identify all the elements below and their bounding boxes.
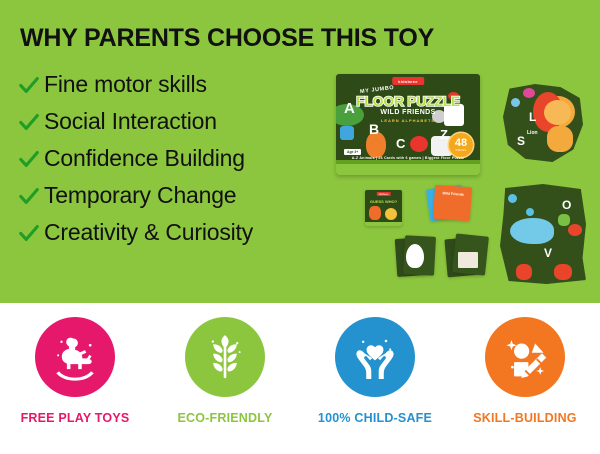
box-letter: B	[369, 121, 379, 137]
box-letter: C	[396, 136, 405, 151]
box-letter: Z	[440, 127, 448, 142]
lower-puzzle-cluster: O V	[500, 184, 586, 284]
list-item: Fine motor skills	[18, 66, 328, 103]
list-item: Social Interaction	[18, 103, 328, 140]
benefits-panel: WHY PARENTS CHOOSE THIS TOY Fine motor s…	[0, 0, 600, 303]
feature-label: FREE PLAY TOYS	[21, 411, 130, 425]
cat-silhouette-icon	[406, 244, 424, 268]
mini-card-box: kidsbeee GUESS WHO?	[365, 190, 402, 226]
box-stripe	[336, 164, 480, 175]
check-icon	[18, 74, 40, 96]
benefit-label: Creativity & Curiosity	[44, 221, 253, 244]
list-item: Confidence Building	[18, 140, 328, 177]
lion-muzzle	[544, 100, 571, 125]
piece-count-badge: 48 PIECES	[449, 133, 473, 157]
card-title: Wild Friends	[442, 191, 464, 196]
feature-circle	[185, 317, 265, 397]
puzzle-letter: S	[517, 134, 525, 148]
list-item: Temporary Change	[18, 177, 328, 214]
mini-box-title: GUESS WHO?	[370, 199, 397, 204]
feature-circle	[335, 317, 415, 397]
page-title: WHY PARENTS CHOOSE THIS TOY	[20, 26, 434, 51]
features-strip: FREE PLAY TOYS ECO-FRIENDLY	[0, 303, 600, 454]
lion-puzzle-cluster: L S Lion	[503, 84, 583, 162]
check-icon	[18, 222, 40, 244]
mini-box-stripe	[365, 222, 402, 226]
feature-child-safe: 100% CHILD-SAFE	[300, 303, 450, 454]
promo-banner: WHY PARENTS CHOOSE THIS TOY Fine motor s…	[0, 0, 600, 454]
decor-blob-red2	[516, 264, 532, 280]
card-white-inset	[458, 252, 478, 268]
decor-blob-red3	[554, 264, 572, 280]
age-label: Age 3+	[344, 149, 361, 155]
box-subtitle: WILD FRIENDS	[380, 109, 435, 116]
feature-circle	[35, 317, 115, 397]
decor-blob-pink	[523, 88, 535, 98]
decor-blob-card	[340, 126, 354, 140]
box-title: FLOOR PUZZLE	[356, 93, 460, 109]
decor-blob-fox	[369, 206, 381, 220]
feature-label: ECO-FRIENDLY	[177, 411, 272, 425]
whale-shape	[510, 218, 554, 244]
lion-word-label: Lion	[527, 130, 538, 136]
badge-text: PIECES	[456, 150, 467, 153]
decor-blob-blue	[511, 98, 520, 107]
leaf-icon	[199, 331, 251, 383]
shapes-pencil-icon	[498, 330, 552, 384]
check-icon	[18, 148, 40, 170]
puzzle-letter: O	[562, 198, 571, 212]
rocking-horse-icon	[48, 330, 102, 384]
benefit-label: Fine motor skills	[44, 73, 207, 96]
check-icon	[18, 185, 40, 207]
box-letter: A	[344, 100, 355, 117]
feature-circle	[485, 317, 565, 397]
decor-blob-dot	[526, 208, 534, 216]
puzzle-letter: V	[544, 246, 552, 260]
list-item: Creativity & Curiosity	[18, 214, 328, 251]
benefit-label: Confidence Building	[44, 147, 245, 170]
brand-logo: kidsbeee	[392, 77, 424, 85]
box-tagline: LEARN ALPHABETS	[381, 118, 435, 123]
brand-logo-small: kidsbeee	[376, 192, 391, 196]
decor-blob-yellow	[385, 208, 397, 220]
check-icon	[18, 111, 40, 133]
feature-free-play-toys: FREE PLAY TOYS	[0, 303, 150, 454]
decor-blob-crab	[410, 136, 428, 152]
decor-blob-green	[558, 214, 570, 226]
decor-blob-red	[568, 224, 582, 236]
decor-blob-dot	[508, 194, 517, 203]
benefits-list: Fine motor skills Social Interaction Con…	[18, 66, 328, 251]
feature-label: SKILL-BUILDING	[473, 411, 576, 425]
feature-eco-friendly: ECO-FRIENDLY	[150, 303, 300, 454]
feature-skill-building: SKILL-BUILDING	[450, 303, 600, 454]
product-photo: kidsbeee MY JUMBO FLOOR PUZZLE WILD FRIE…	[318, 62, 594, 290]
benefit-label: Social Interaction	[44, 110, 217, 133]
lion-body	[547, 126, 573, 152]
puzzle-box-package: kidsbeee MY JUMBO FLOOR PUZZLE WILD FRIE…	[336, 74, 480, 175]
card-orange: Wild Friends	[433, 185, 472, 221]
feature-label: 100% CHILD-SAFE	[318, 411, 432, 425]
benefit-label: Temporary Change	[44, 184, 236, 207]
hands-heart-icon	[348, 330, 402, 384]
box-footer-text: A-Z Animals | 26 Cards with 6 games | Bi…	[352, 156, 465, 160]
puzzle-letter: L	[529, 110, 536, 124]
badge-number: 48	[455, 138, 467, 149]
